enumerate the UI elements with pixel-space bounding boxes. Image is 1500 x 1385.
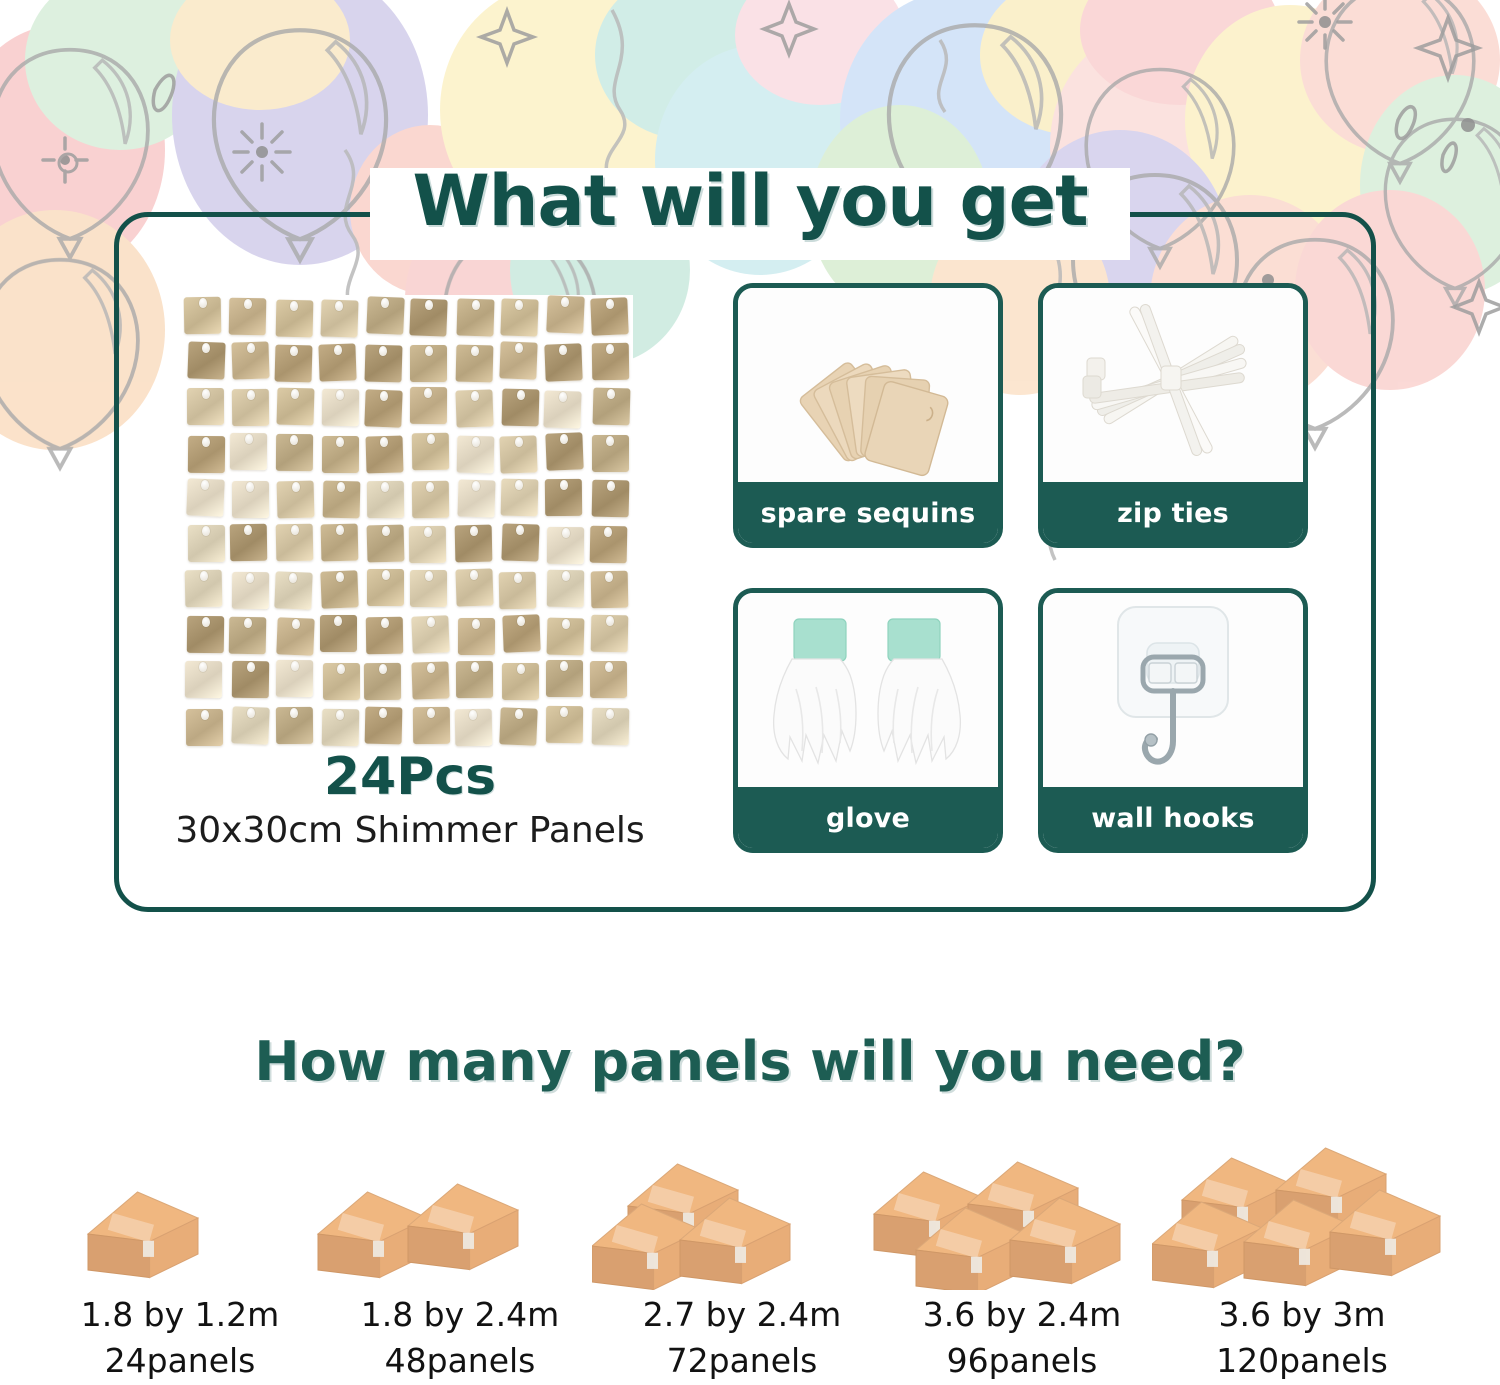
sequin-clip [606, 436, 614, 446]
sequin-clip [290, 708, 298, 718]
size-panel-count-label: 24panels [30, 1338, 330, 1384]
sequin-clip [202, 526, 210, 536]
sequin-clip [291, 661, 299, 671]
size-options-row: 1.8 by 1.2m24panels 1.8 by 2.4m48panels [0, 1140, 1500, 1385]
sequin-clip [292, 619, 300, 629]
sequin-clip [515, 480, 523, 490]
sequin-clip [291, 389, 299, 399]
sequin-clip [381, 298, 389, 308]
accessory-label-spare-sequins: spare sequins [737, 482, 999, 544]
shimmer-panel-photo [183, 295, 633, 750]
sequin-clip [336, 437, 344, 447]
sequin-clip [562, 528, 570, 538]
size-panel-count-label: 48panels [310, 1338, 610, 1384]
size-panel-count-label: 96panels [872, 1338, 1172, 1384]
sequin-clip [379, 346, 387, 356]
sequin-clip [202, 389, 210, 399]
sequin-clip [514, 573, 522, 583]
sequin-clip [380, 391, 388, 401]
sequin-clip [200, 571, 208, 581]
sequin-clip [424, 527, 432, 537]
accessory-card-glove[interactable]: glove [733, 588, 1003, 853]
wall-hook-icon [1043, 593, 1303, 798]
accessory-card-zip-ties[interactable]: zip ties [1038, 283, 1308, 548]
sequin-clip [425, 571, 433, 581]
size-panel-count-label: 72panels [592, 1338, 892, 1384]
sequin-clip [382, 526, 390, 536]
size-option[interactable]: 1.8 by 1.2m24panels [30, 1140, 330, 1385]
accessory-label-glove: glove [737, 787, 999, 849]
sequin-clip [427, 617, 435, 627]
sequin-clip [562, 619, 570, 629]
sequin-clip [379, 708, 387, 718]
size-option[interactable]: 2.7 by 2.4m72panels [592, 1140, 892, 1385]
size-option-text: 3.6 by 3m120panels [1152, 1292, 1452, 1383]
accessory-label-zip-ties: zip ties [1042, 482, 1304, 544]
size-option[interactable]: 1.8 by 2.4m48panels [310, 1140, 610, 1385]
size-option-text: 1.8 by 1.2m24panels [30, 1292, 330, 1383]
sequin-clip [427, 663, 435, 673]
box-stack-illustration [310, 1140, 610, 1290]
sequin-clip [515, 709, 523, 719]
sequin-clip [336, 525, 344, 535]
panel-description: 30x30cm Shimmer Panels [150, 811, 670, 851]
sequin-clip [559, 345, 567, 355]
sequin-clip [382, 570, 390, 580]
sequin-clip [201, 710, 209, 720]
size-dimension-label: 3.6 by 2.4m [923, 1295, 1122, 1334]
sequin-clip [291, 525, 299, 535]
sequin-grid [183, 295, 633, 750]
box-stack-illustration [1152, 1140, 1452, 1290]
sequin-clip [381, 482, 389, 492]
sequin-clip [290, 435, 298, 445]
sequin-clip [472, 481, 480, 491]
size-option[interactable]: 3.6 by 2.4m96panels [872, 1140, 1172, 1385]
sequin-clip [605, 662, 613, 672]
sequin-clip [379, 664, 387, 674]
sequin-clip [247, 390, 255, 400]
sequin-clip [607, 389, 615, 399]
size-dimension-label: 1.8 by 1.2m [81, 1295, 280, 1334]
sequin-clip [247, 662, 255, 672]
panels-needed-heading: How many panels will you need? [0, 1030, 1500, 1093]
sequin-clip [470, 526, 478, 536]
size-panel-count-label: 120panels [1152, 1338, 1452, 1384]
sequin-clip [517, 390, 525, 400]
box-stack-illustration [30, 1140, 330, 1290]
sequin-clip [471, 391, 479, 401]
sequin-clip [605, 572, 613, 582]
sequin-clip [606, 616, 614, 626]
accessory-cards: spare sequins [733, 283, 1303, 860]
panel-quantity: 24Pcs [150, 750, 670, 805]
sequin-clip [202, 617, 210, 627]
size-option-text: 1.8 by 2.4m48panels [310, 1292, 610, 1383]
accessory-card-wall-hooks[interactable]: wall hooks [1038, 588, 1308, 853]
sequin-clip [334, 345, 342, 355]
sequin-clip [381, 618, 389, 628]
sequin-clip [337, 482, 345, 492]
infographic-page: What will you get 24Pcs 30x30cm Shimmer … [0, 0, 1500, 1385]
sequin-clip [292, 482, 300, 492]
sequin-clip [427, 434, 435, 444]
gloves-icon [738, 593, 998, 798]
size-option-text: 3.6 by 2.4m96panels [872, 1292, 1172, 1383]
box-stack-illustration [592, 1140, 892, 1290]
sequin-clip [471, 346, 479, 356]
sequin-clip [606, 299, 614, 309]
sequin-clip [336, 390, 344, 400]
sequin-clip [425, 346, 433, 356]
sequin-clip [425, 300, 433, 310]
sequin-clip [247, 343, 255, 353]
sequin-clip [290, 346, 298, 356]
zip-ties-icon [1043, 288, 1303, 493]
size-dimension-label: 2.7 by 2.4m [643, 1295, 842, 1334]
sequin-clip [202, 437, 210, 447]
sequin-clip [559, 392, 567, 402]
accessory-label-wall-hooks: wall hooks [1042, 787, 1304, 849]
sequin-clip [247, 708, 255, 718]
sequin-clip [427, 708, 435, 718]
accessory-card-spare-sequins[interactable]: spare sequins [733, 283, 1003, 548]
sequin-clip [245, 434, 253, 444]
sequin-clip [607, 481, 615, 491]
sequin-clip [471, 662, 479, 672]
sequin-clip [560, 480, 568, 490]
size-dimension-label: 1.8 by 2.4m [361, 1295, 560, 1334]
size-option-text: 2.7 by 2.4m72panels [592, 1292, 892, 1383]
sequin-clip [472, 300, 480, 310]
sequin-clip [515, 300, 523, 310]
sequin-clip [336, 572, 344, 582]
sequin-clip [290, 301, 298, 311]
size-option[interactable]: 3.6 by 3m120panels [1152, 1140, 1452, 1385]
sequin-clip [334, 616, 342, 626]
spare-sequins-icon [738, 288, 998, 493]
page-title: What will you get [0, 160, 1500, 242]
sequin-clip [335, 301, 343, 311]
sequin-clip [515, 437, 523, 447]
panel-caption: 24Pcs 30x30cm Shimmer Panels [150, 750, 670, 850]
size-dimension-label: 3.6 by 3m [1218, 1295, 1385, 1334]
sequin-clip [515, 343, 523, 353]
sequin-clip [201, 480, 209, 490]
box-stack-illustration [872, 1140, 1172, 1290]
sequin-clip [244, 299, 252, 309]
sequin-clip [606, 709, 614, 719]
sequin-clip [517, 664, 525, 674]
sequin-clip [244, 618, 252, 628]
sequin-clip [199, 298, 207, 308]
sequin-clip [472, 437, 480, 447]
sequin-clip [562, 571, 570, 581]
sequin-clip [202, 343, 210, 353]
